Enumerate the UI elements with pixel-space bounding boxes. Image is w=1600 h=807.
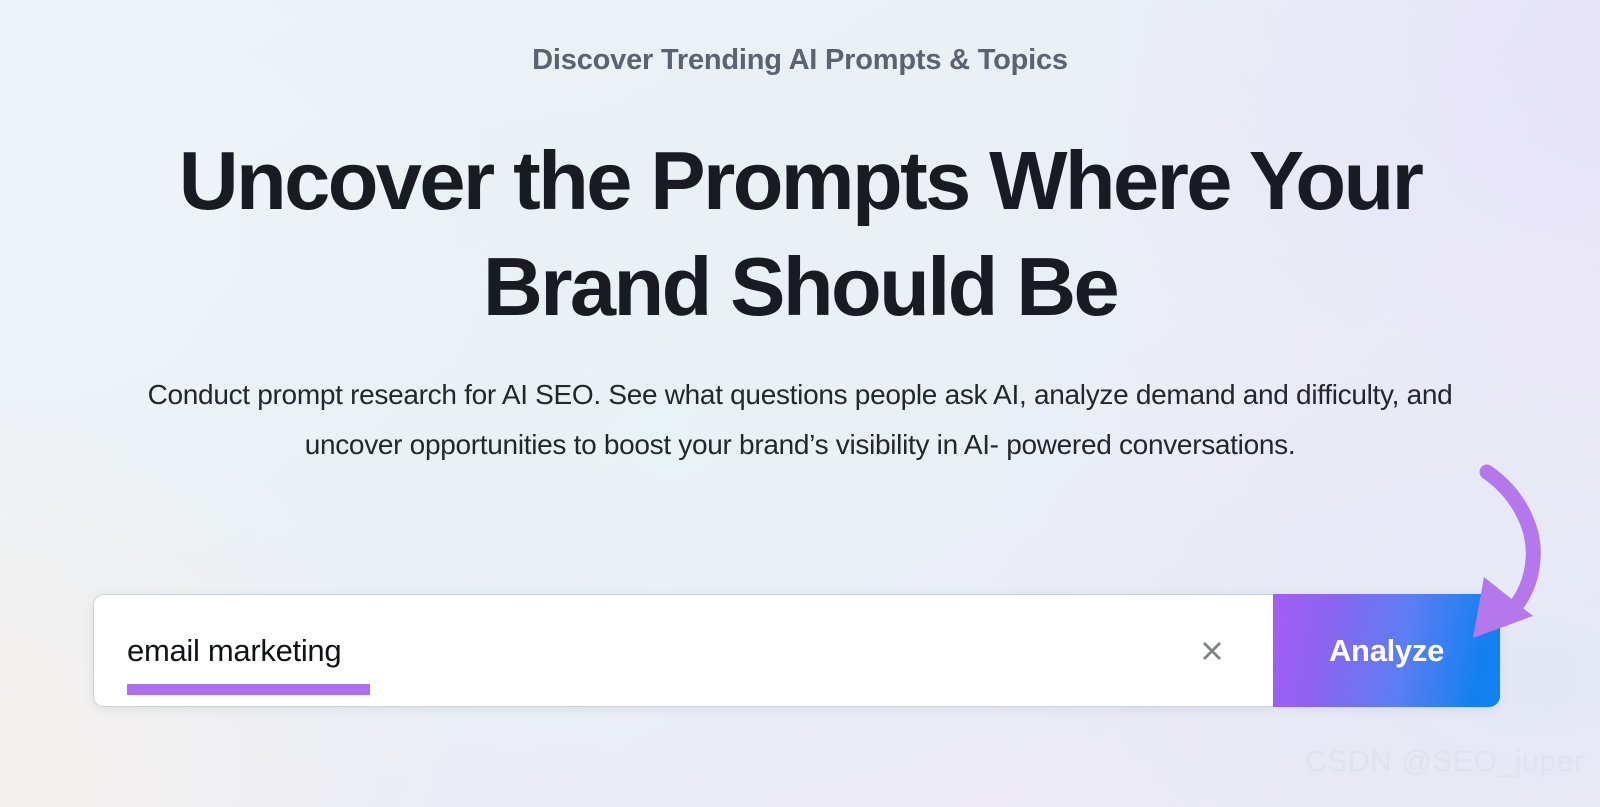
eyebrow-label: Discover Trending AI Prompts & Topics xyxy=(0,44,1600,77)
analyze-button[interactable]: Analyze xyxy=(1273,594,1500,707)
search-bar: Analyze xyxy=(93,594,1500,707)
close-x-icon xyxy=(1197,636,1227,666)
clear-search-button[interactable] xyxy=(1195,634,1229,668)
page-subtitle-line-1: Conduct prompt research for AI SEO. See … xyxy=(148,379,1129,410)
page-subtitle: Conduct prompt research for AI SEO. See … xyxy=(100,370,1500,470)
search-input-underline xyxy=(127,684,370,695)
page-subtitle-line-3: powered conversations. xyxy=(1006,429,1295,460)
hero-section: Discover Trending AI Prompts & Topics Un… xyxy=(0,0,1600,807)
page-title-line-2: Brand Should Be xyxy=(483,240,1117,333)
watermark-text: CSDN @SEO_juper xyxy=(1305,745,1585,779)
page-title-line-1: Uncover the Prompts Where Your xyxy=(179,134,1422,227)
page-title: Uncover the Prompts Where Your Brand Sho… xyxy=(90,128,1510,340)
search-field-wrapper[interactable] xyxy=(93,594,1273,707)
